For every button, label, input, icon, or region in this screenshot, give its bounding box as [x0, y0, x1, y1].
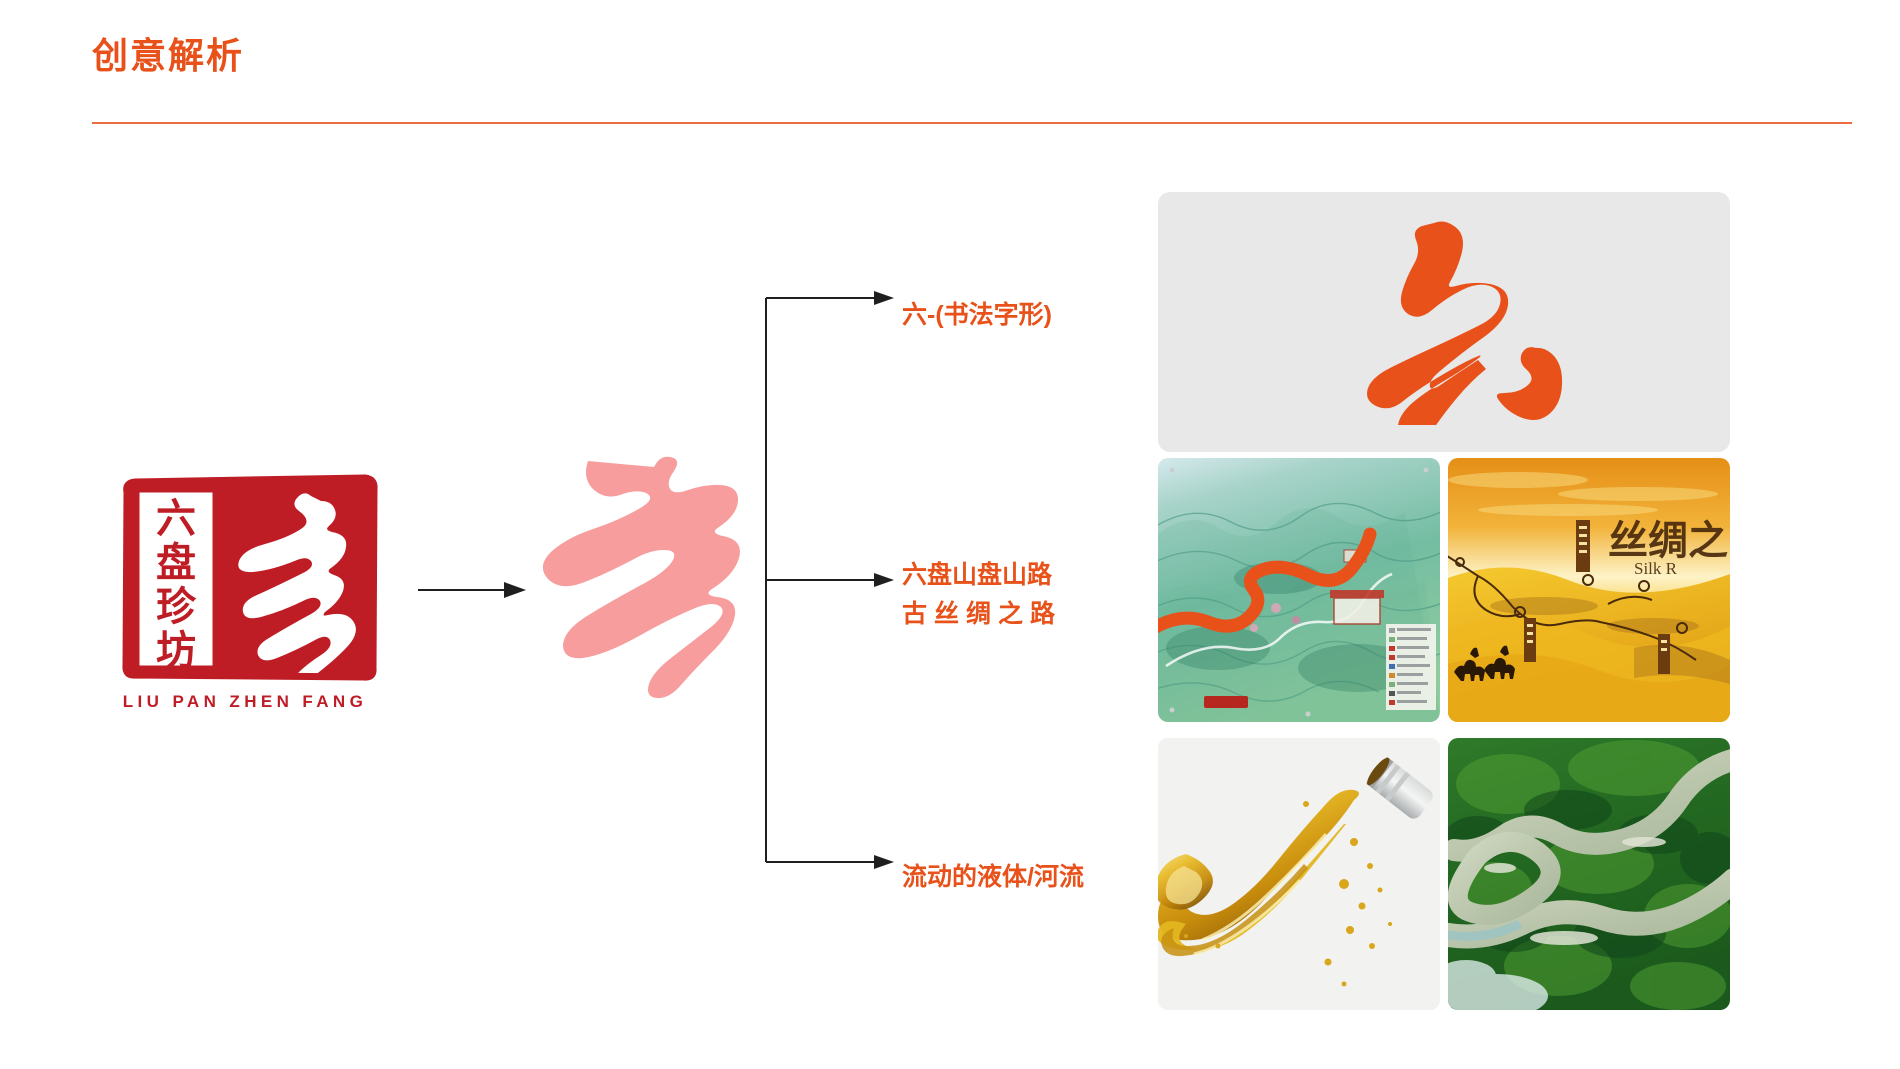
calligraphy-panel: [1158, 192, 1730, 452]
liu-calligraphy-icon: [1314, 220, 1574, 425]
thumbnail-silk-road: 丝绸之 Silk R: [1448, 458, 1730, 722]
branch-label-line: 六盘山盘山路: [902, 556, 1062, 595]
branch-label-line: 六-(书法字形): [902, 296, 1052, 335]
thumbnail-mountain-map: [1158, 458, 1440, 722]
branch-label-line: 古丝绸之路: [902, 595, 1062, 634]
svg-text:Silk R: Silk R: [1634, 559, 1678, 578]
logo-latin-name: LIU PAN ZHEN FANG: [100, 692, 390, 712]
branch-label-line: 流动的液体/河流: [902, 858, 1084, 897]
svg-text:六: 六: [156, 496, 196, 541]
branch-label-flowing-liquid: 流动的液体/河流: [902, 858, 1084, 897]
branch-label-calligraphy: 六-(书法字形): [902, 296, 1052, 335]
branch-label-mountain-road: 六盘山盘山路 古丝绸之路: [902, 556, 1062, 634]
brand-logo: 六 盘 珍 坊 LIU PAN ZHEN FANG: [100, 470, 390, 740]
title-divider: [92, 122, 1852, 124]
thumbnail-winding-river: [1448, 738, 1730, 1010]
thumbnail-pouring-oil: [1158, 738, 1440, 1010]
svg-text:珍: 珍: [156, 584, 197, 629]
abstract-brush-mark-icon: [500, 445, 800, 765]
branch-connector: [760, 290, 900, 890]
svg-text:丝绸之: 丝绸之: [1608, 518, 1728, 563]
svg-text:盘: 盘: [156, 540, 196, 585]
page-title: 创意解析: [92, 36, 244, 76]
seal-mark-icon: 六 盘 珍 坊: [115, 470, 380, 685]
